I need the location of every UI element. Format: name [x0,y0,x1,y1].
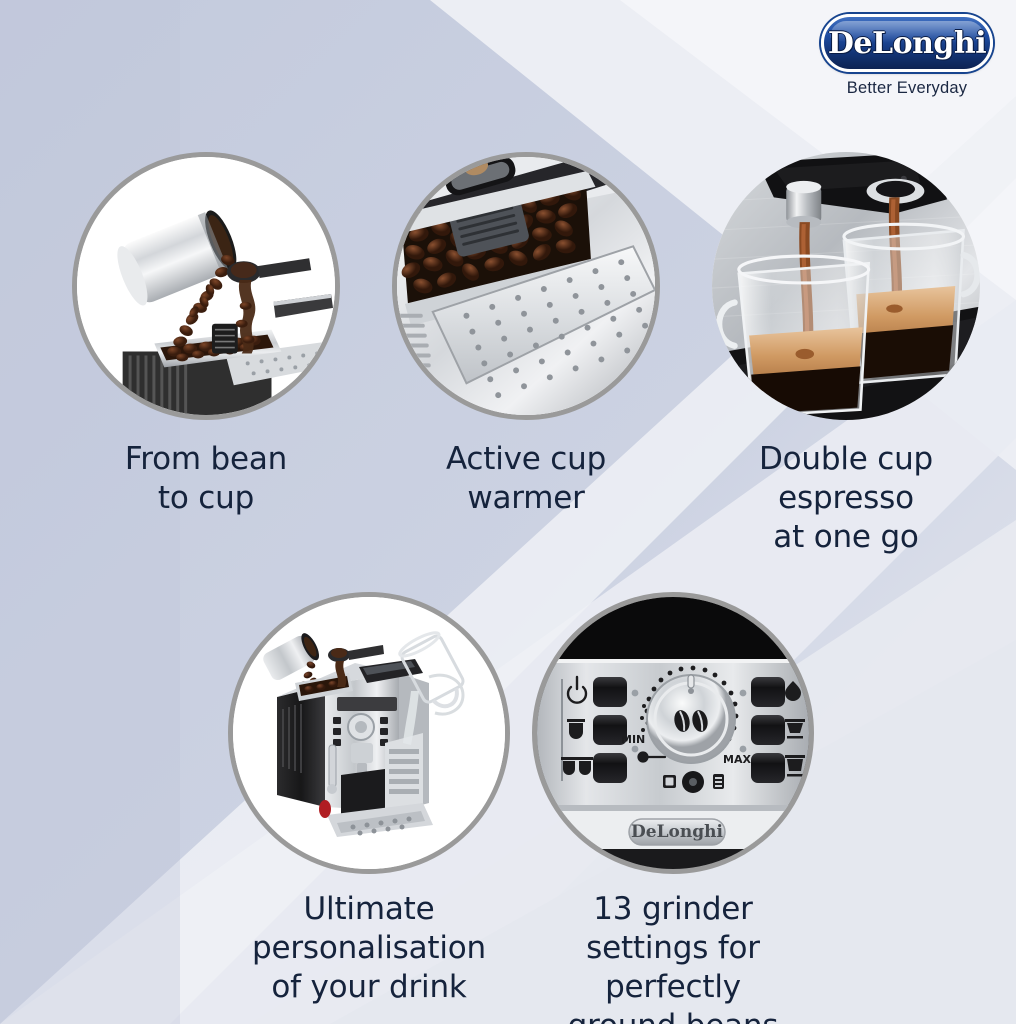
feature-image-circle [712,152,980,420]
feature-caption: From bean to cup [72,440,340,518]
full-espresso-machine-exploded-view-image [233,597,505,869]
two-glass-cups-with-espresso-streams-image [712,152,980,420]
feature-image-circle [392,152,660,420]
descale-icon [663,775,676,788]
feature-image-circle [228,592,510,874]
feature-caption: Active cup warmer [392,440,660,518]
feature-card-bean-to-cup: From bean to cup [72,152,340,518]
feature-card-personalisation: Ultimate personalisation of your drink [228,592,510,1007]
feature-card-grinder-settings: MIN MAX DeLonghi [532,592,814,1024]
machine-control-panel-with-grinder-knob-image: MIN MAX DeLonghi [537,597,809,869]
tray-icon [713,774,724,789]
logo-tagline: Better Everyday [812,79,1002,98]
bean-container-pouring-into-hopper-image [77,157,335,415]
feature-caption: Ultimate personalisation of your drink [228,890,510,1007]
feature-card-double-espresso: Double cup espresso at one go [712,152,980,557]
machine-badge-text: DeLonghi [631,822,723,842]
bean-hopper-and-perforated-cup-warmer-tray-image [397,157,655,415]
feature-card-cup-warmer: Active cup warmer [392,152,660,518]
machine-brand-badge: DeLonghi [629,819,725,845]
feature-image-circle [72,152,340,420]
brand-logo: DeLonghi Better Everyday [812,14,1002,98]
feature-image-circle: MIN MAX DeLonghi [532,592,814,874]
feature-caption: Double cup espresso at one go [712,440,980,557]
logo-pill: DeLonghi [821,14,993,72]
knob-max-label: MAX [723,753,751,766]
logo-wordmark: DeLonghi [828,26,986,61]
knob-min-label: MIN [621,733,645,746]
feature-caption: 13 grinder settings for perfectly ground… [532,890,814,1024]
